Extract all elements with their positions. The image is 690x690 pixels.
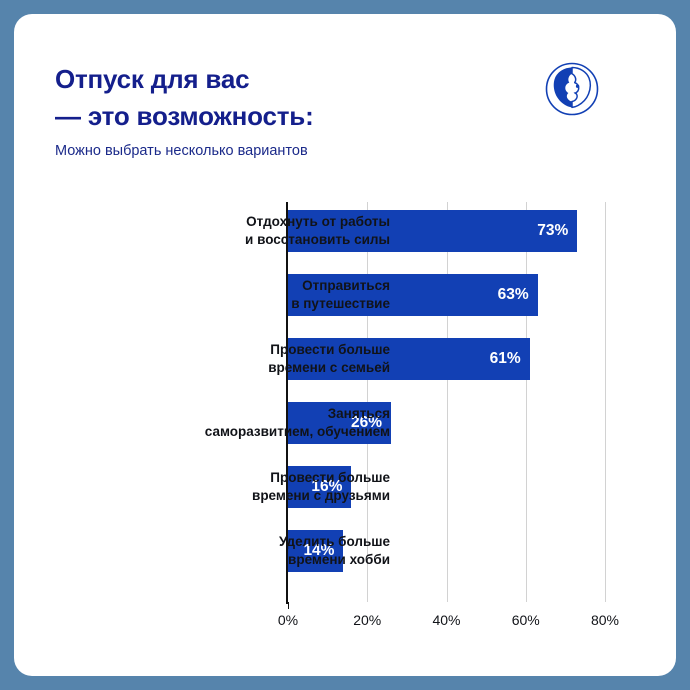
bar-value-label: 73% (537, 210, 568, 252)
lion-head-emblem-logo (544, 61, 600, 117)
header: Отпуск для вас — это возможность: Можно … (14, 14, 676, 184)
x-axis-tick-label: 60% (496, 612, 556, 628)
gridline (605, 202, 606, 602)
category-label: Провести больше времени с друзьями (60, 469, 390, 505)
category-label: Провести больше времени с семьей (60, 341, 390, 377)
category-label: Отдохнуть от работы и восстановить силы (60, 213, 390, 249)
lion-head-icon (544, 61, 600, 117)
infographic-card: Отпуск для вас — это возможность: Можно … (14, 14, 676, 676)
bar-value-label: 63% (498, 274, 529, 316)
bar-chart: 0%20%40%60%80%73%63%61%26%16%14% Отдохну… (14, 184, 676, 676)
category-label: Отправиться в путешествие (60, 277, 390, 313)
x-axis-tick-label: 20% (337, 612, 397, 628)
category-label: Уделить больше времени хобби (60, 533, 390, 569)
x-axis-tick-label: 0% (258, 612, 318, 628)
page-title-line-2: — это возможность: (55, 101, 314, 132)
x-axis-tick-label: 80% (575, 612, 635, 628)
page-subtitle: Можно выбрать несколько вариантов (55, 143, 308, 159)
x-axis-tick-label: 40% (417, 612, 477, 628)
page-title-line-1: Отпуск для вас (55, 64, 249, 95)
outer-frame: Отпуск для вас — это возможность: Можно … (0, 0, 690, 690)
category-label: Заняться саморазвитием, обучением (60, 405, 390, 441)
bar-value-label: 61% (490, 338, 521, 380)
x-axis-tick-mark (288, 602, 289, 609)
